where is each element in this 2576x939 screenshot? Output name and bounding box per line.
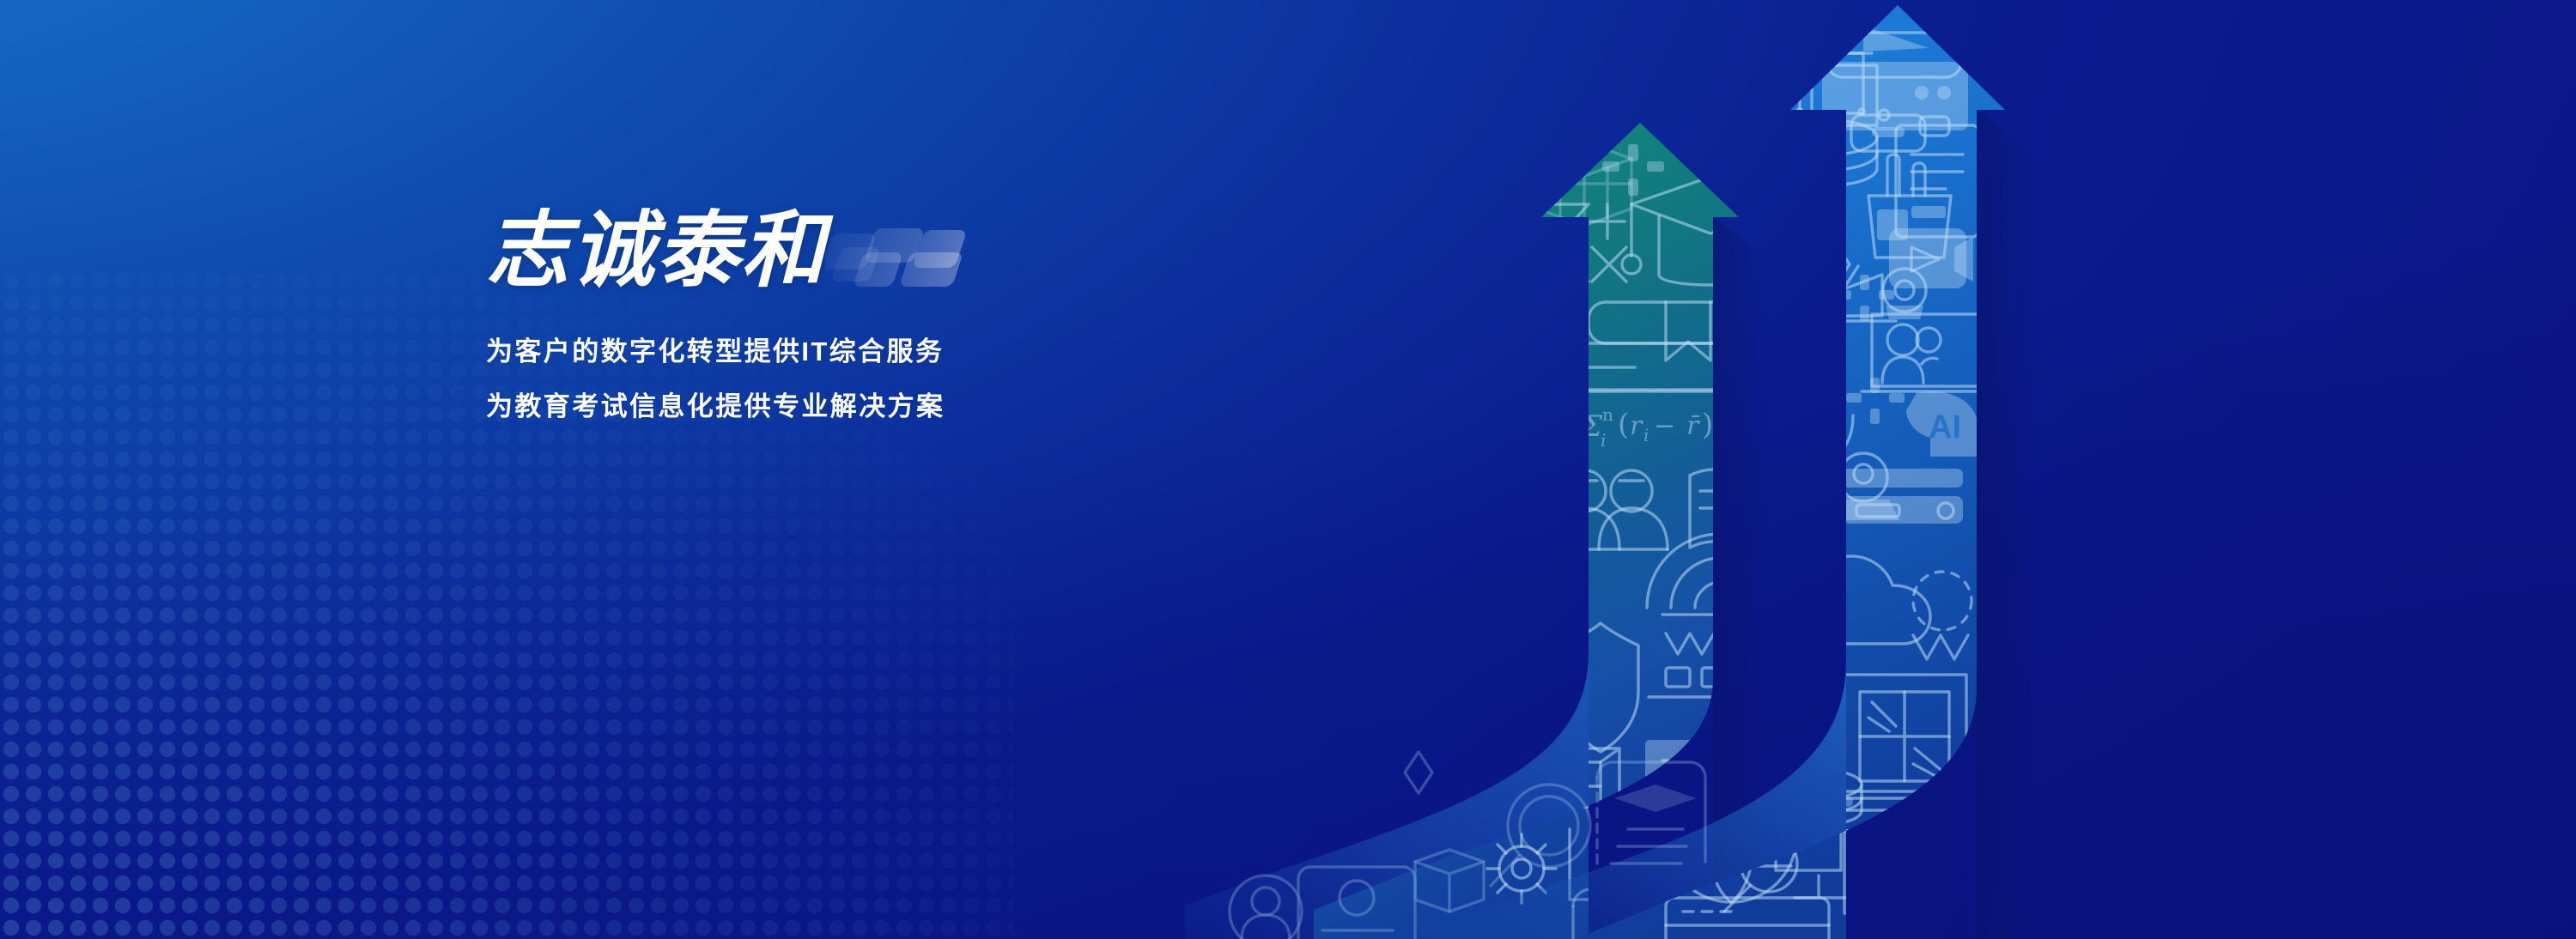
- hero-banner: .ic { fill:none; stroke:#bcdcf6; stroke-…: [0, 0, 2576, 939]
- parallelogram-logo-mark: [825, 218, 1014, 300]
- tagline-line-2: 为教育考试信息化提供专业解决方案: [486, 379, 1431, 434]
- server-rack-icon: [1843, 469, 1963, 524]
- presentation-chart-icon: [1836, 831, 1966, 939]
- sparkle-diamond-icon-2: [1819, 242, 1850, 287]
- castle-flag-icon: [1520, 532, 1589, 606]
- tagline-line-1: 为客户的数字化转型提供IT综合服务: [486, 324, 1431, 379]
- cloud-outline-icon: [1917, 899, 1987, 930]
- sparkle-diamond-icon: [1513, 268, 1544, 309]
- sparkle-diamond-icon-4: [1906, 891, 1934, 932]
- svg-text:i: i: [1601, 430, 1606, 451]
- wireframe-cube-icon: [1537, 142, 1631, 226]
- svg-text:−: −: [1654, 411, 1675, 441]
- svg-text:r̄: r̄: [1686, 411, 1700, 441]
- sparkle-diamond-icon-5: [1405, 752, 1432, 793]
- svg-text:n: n: [1602, 404, 1613, 425]
- plus-dots-icon-2: [1504, 331, 1563, 378]
- sparkle-diamond-icon-3: [1767, 500, 1798, 544]
- dashed-lines-decoration: [1783, 539, 1843, 566]
- page-title: 志诚泰和: [486, 203, 826, 299]
- svg-text:i: i: [1643, 425, 1649, 445]
- svg-text:): ): [1702, 408, 1713, 442]
- svg-text:(: (: [1618, 408, 1629, 442]
- arrows-illustration: .ic { fill:none; stroke:#bcdcf6; stroke-…: [1185, 0, 2576, 939]
- svg-text:r: r: [1630, 411, 1643, 441]
- paper-plane-icon: [1879, 819, 1959, 882]
- microphone-icon: [1779, 379, 1853, 482]
- title-row: 志诚泰和: [486, 203, 1431, 306]
- video-camera-icon: [1889, 228, 1973, 288]
- svg-text:AI: AI: [1929, 409, 1961, 445]
- hero-copy: 志诚泰和: [486, 203, 1431, 434]
- svg-text:Σ: Σ: [1580, 409, 1603, 444]
- tagline-block: 为客户的数字化转型提供IT综合服务 为教育考试信息化提供专业解决方案: [486, 324, 1431, 434]
